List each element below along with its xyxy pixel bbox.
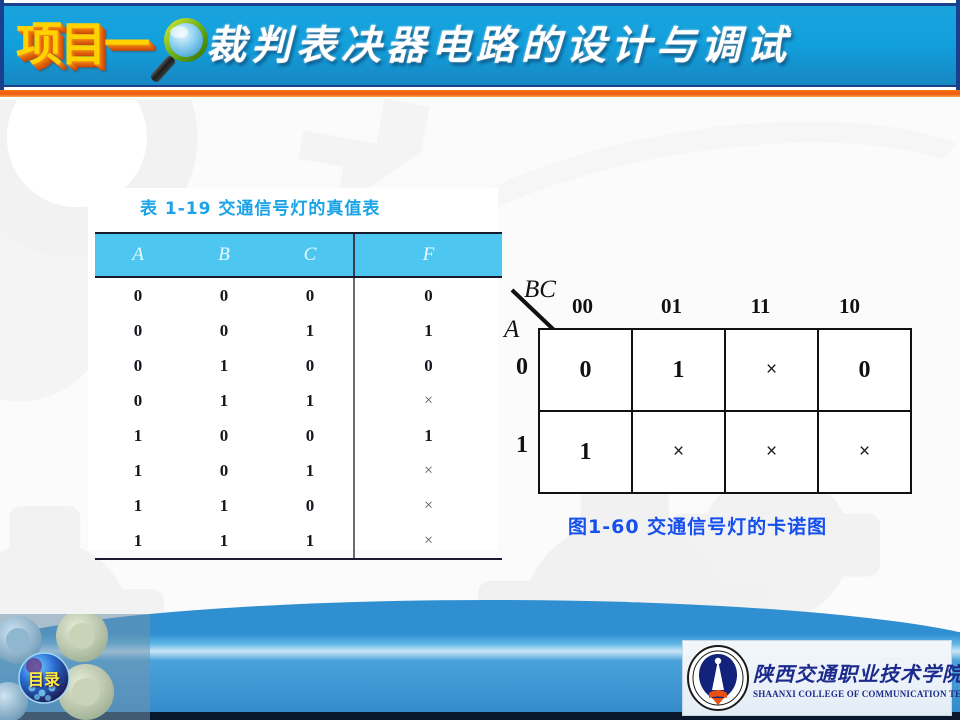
kmap-cell-1-01: × — [632, 411, 725, 493]
cell-a: 0 — [95, 277, 181, 313]
header-banner: 项目一 — [0, 0, 960, 96]
cell-f: 0 — [354, 277, 502, 313]
page-title: 裁判表决器电路的设计与调试 — [206, 16, 936, 76]
school-emblem-icon — [685, 645, 751, 711]
kmap-cell-1-00: 1 — [539, 411, 632, 493]
cell-f: × — [354, 383, 502, 418]
cell-a: 1 — [95, 523, 181, 559]
kmap-row: 0 1 × 0 — [539, 329, 911, 411]
cell-f: × — [354, 488, 502, 523]
cell-c: 0 — [267, 418, 354, 453]
truth-table-caption: 表 1-19 交通信号灯的真值表 — [140, 194, 380, 219]
cell-a: 0 — [95, 383, 181, 418]
column-header-a: A — [95, 233, 181, 277]
slide-canvas: 项目一 — [0, 0, 960, 720]
table-row: 1 1 1 × — [95, 523, 502, 559]
cell-f: 1 — [354, 418, 502, 453]
cell-a: 1 — [95, 418, 181, 453]
kmap-cell-0-10: 0 — [818, 329, 911, 411]
cell-b: 0 — [181, 418, 267, 453]
school-logo: 陕西交通职业技术学院 SHAANXI COLLEGE OF COMMUNICAT… — [682, 640, 952, 716]
kmap-col-header-01: 01 — [627, 294, 716, 319]
school-name-en: SHAANXI COLLEGE OF COMMUNICATION TECHNOL… — [753, 689, 960, 699]
cell-c: 1 — [267, 453, 354, 488]
cell-a: 1 — [95, 453, 181, 488]
kmap-grid: 0 1 × 0 1 × × × — [538, 328, 912, 494]
kmap-row: 1 × × × — [539, 411, 911, 493]
table-row: 0 0 1 1 — [95, 313, 502, 348]
kmap-cell-0-11: × — [725, 329, 818, 411]
kmap-col-header-10: 10 — [805, 294, 894, 319]
truth-table-header-row: A B C F — [95, 233, 502, 277]
table-row: 1 0 1 × — [95, 453, 502, 488]
cell-b: 0 — [181, 313, 267, 348]
cell-b: 1 — [181, 348, 267, 383]
table-row: 1 1 0 × — [95, 488, 502, 523]
cell-a: 0 — [95, 313, 181, 348]
cell-b: 0 — [181, 277, 267, 313]
cell-f: × — [354, 523, 502, 559]
header-right-edge — [956, 0, 960, 90]
cell-c: 0 — [267, 348, 354, 383]
kmap-cell-1-10: × — [818, 411, 911, 493]
cell-a: 1 — [95, 488, 181, 523]
table-row: 1 0 0 1 — [95, 418, 502, 453]
column-header-c: C — [267, 233, 354, 277]
table-row: 0 1 1 × — [95, 383, 502, 418]
kmap-cell-1-11: × — [725, 411, 818, 493]
cell-c: 0 — [267, 277, 354, 313]
table-row: 0 0 0 0 — [95, 277, 502, 313]
column-header-f: F — [354, 233, 502, 277]
karnaugh-map-block: BC A 00 01 11 10 0 1 0 1 × 0 1 × × × 图1-… — [500, 272, 920, 542]
cell-c: 0 — [267, 488, 354, 523]
kmap-col-header-11: 11 — [716, 294, 805, 319]
cell-c: 1 — [267, 383, 354, 418]
cell-b: 1 — [181, 383, 267, 418]
kmap-row-header-0: 0 — [508, 354, 536, 381]
toc-label: 目录 — [18, 652, 70, 704]
cell-f: 1 — [354, 313, 502, 348]
kmap-row-header-1: 1 — [508, 432, 536, 459]
magnifier-icon — [148, 14, 214, 86]
cell-a: 0 — [95, 348, 181, 383]
header-left-edge — [0, 0, 4, 90]
header-white-rule — [0, 97, 960, 99]
header-orange-rule — [0, 90, 960, 97]
truth-table-block: 表 1-19 交通信号灯的真值表 A B C F 0 0 0 0 0 — [88, 188, 498, 550]
table-row: 0 1 0 0 — [95, 348, 502, 383]
column-header-b: B — [181, 233, 267, 277]
cell-f: 0 — [354, 348, 502, 383]
kmap-caption: 图1-60 交通信号灯的卡诺图 — [568, 512, 827, 539]
cell-c: 1 — [267, 523, 354, 559]
school-logo-text: 陕西交通职业技术学院 SHAANXI COLLEGE OF COMMUNICAT… — [751, 658, 960, 699]
cell-c: 1 — [267, 313, 354, 348]
kmap-cell-0-01: 1 — [632, 329, 725, 411]
cell-b: 1 — [181, 488, 267, 523]
cell-f: × — [354, 453, 502, 488]
kmap-col-header-00: 00 — [538, 294, 627, 319]
cell-b: 1 — [181, 523, 267, 559]
project-tag: 项目一 — [16, 8, 148, 74]
cell-b: 0 — [181, 453, 267, 488]
school-name-cn: 陕西交通职业技术学院 — [753, 658, 960, 687]
table-of-contents-button[interactable]: 目录 — [18, 652, 70, 704]
kmap-cell-0-00: 0 — [539, 329, 632, 411]
truth-table: A B C F 0 0 0 0 0 0 1 1 — [95, 232, 502, 560]
